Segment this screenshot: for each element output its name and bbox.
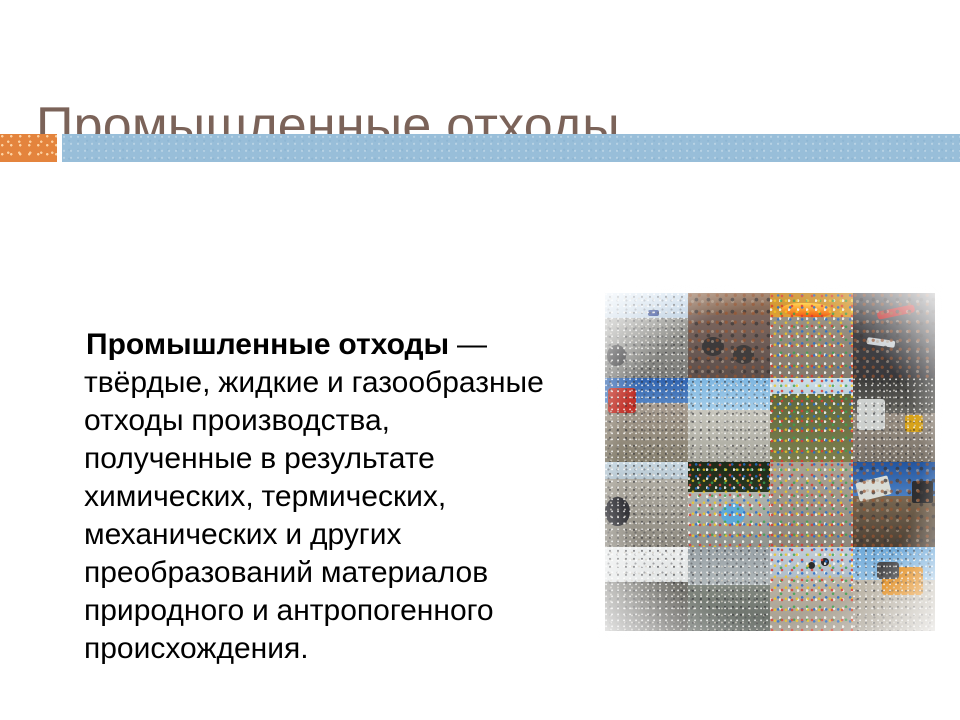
collage-tile — [853, 547, 936, 632]
collage-tile — [688, 293, 771, 378]
collage-tile — [770, 293, 853, 378]
collage-tile — [605, 547, 688, 632]
collage-tile — [605, 462, 688, 547]
collage-tile — [770, 378, 853, 463]
collage-tile — [605, 378, 688, 463]
body-paragraph: Промышленные отходы — твёрдые, жидкие и … — [84, 326, 554, 668]
accent-orange-block — [0, 134, 57, 162]
collage-tile — [853, 462, 936, 547]
collage-tile — [688, 462, 771, 547]
collage-tile — [853, 378, 936, 463]
collage-tile — [688, 378, 771, 463]
collage-tile — [605, 293, 688, 378]
industrial-waste-photo-collage — [605, 293, 935, 631]
collage-tile — [770, 462, 853, 547]
presentation-slide: Промышленные отходы Промышленные отходы … — [0, 0, 960, 720]
body-lead-term: Промышленные отходы — [86, 328, 449, 361]
body-text-block: Промышленные отходы — твёрдые, жидкие и … — [84, 296, 554, 698]
body-definition: — твёрдые, жидкие и газообразные отходы … — [84, 328, 544, 665]
collage-tile — [770, 547, 853, 632]
title-accent-bar — [0, 134, 960, 162]
collage-tile — [853, 293, 936, 378]
collage-tile — [688, 547, 771, 632]
accent-blue-bar — [62, 134, 960, 162]
